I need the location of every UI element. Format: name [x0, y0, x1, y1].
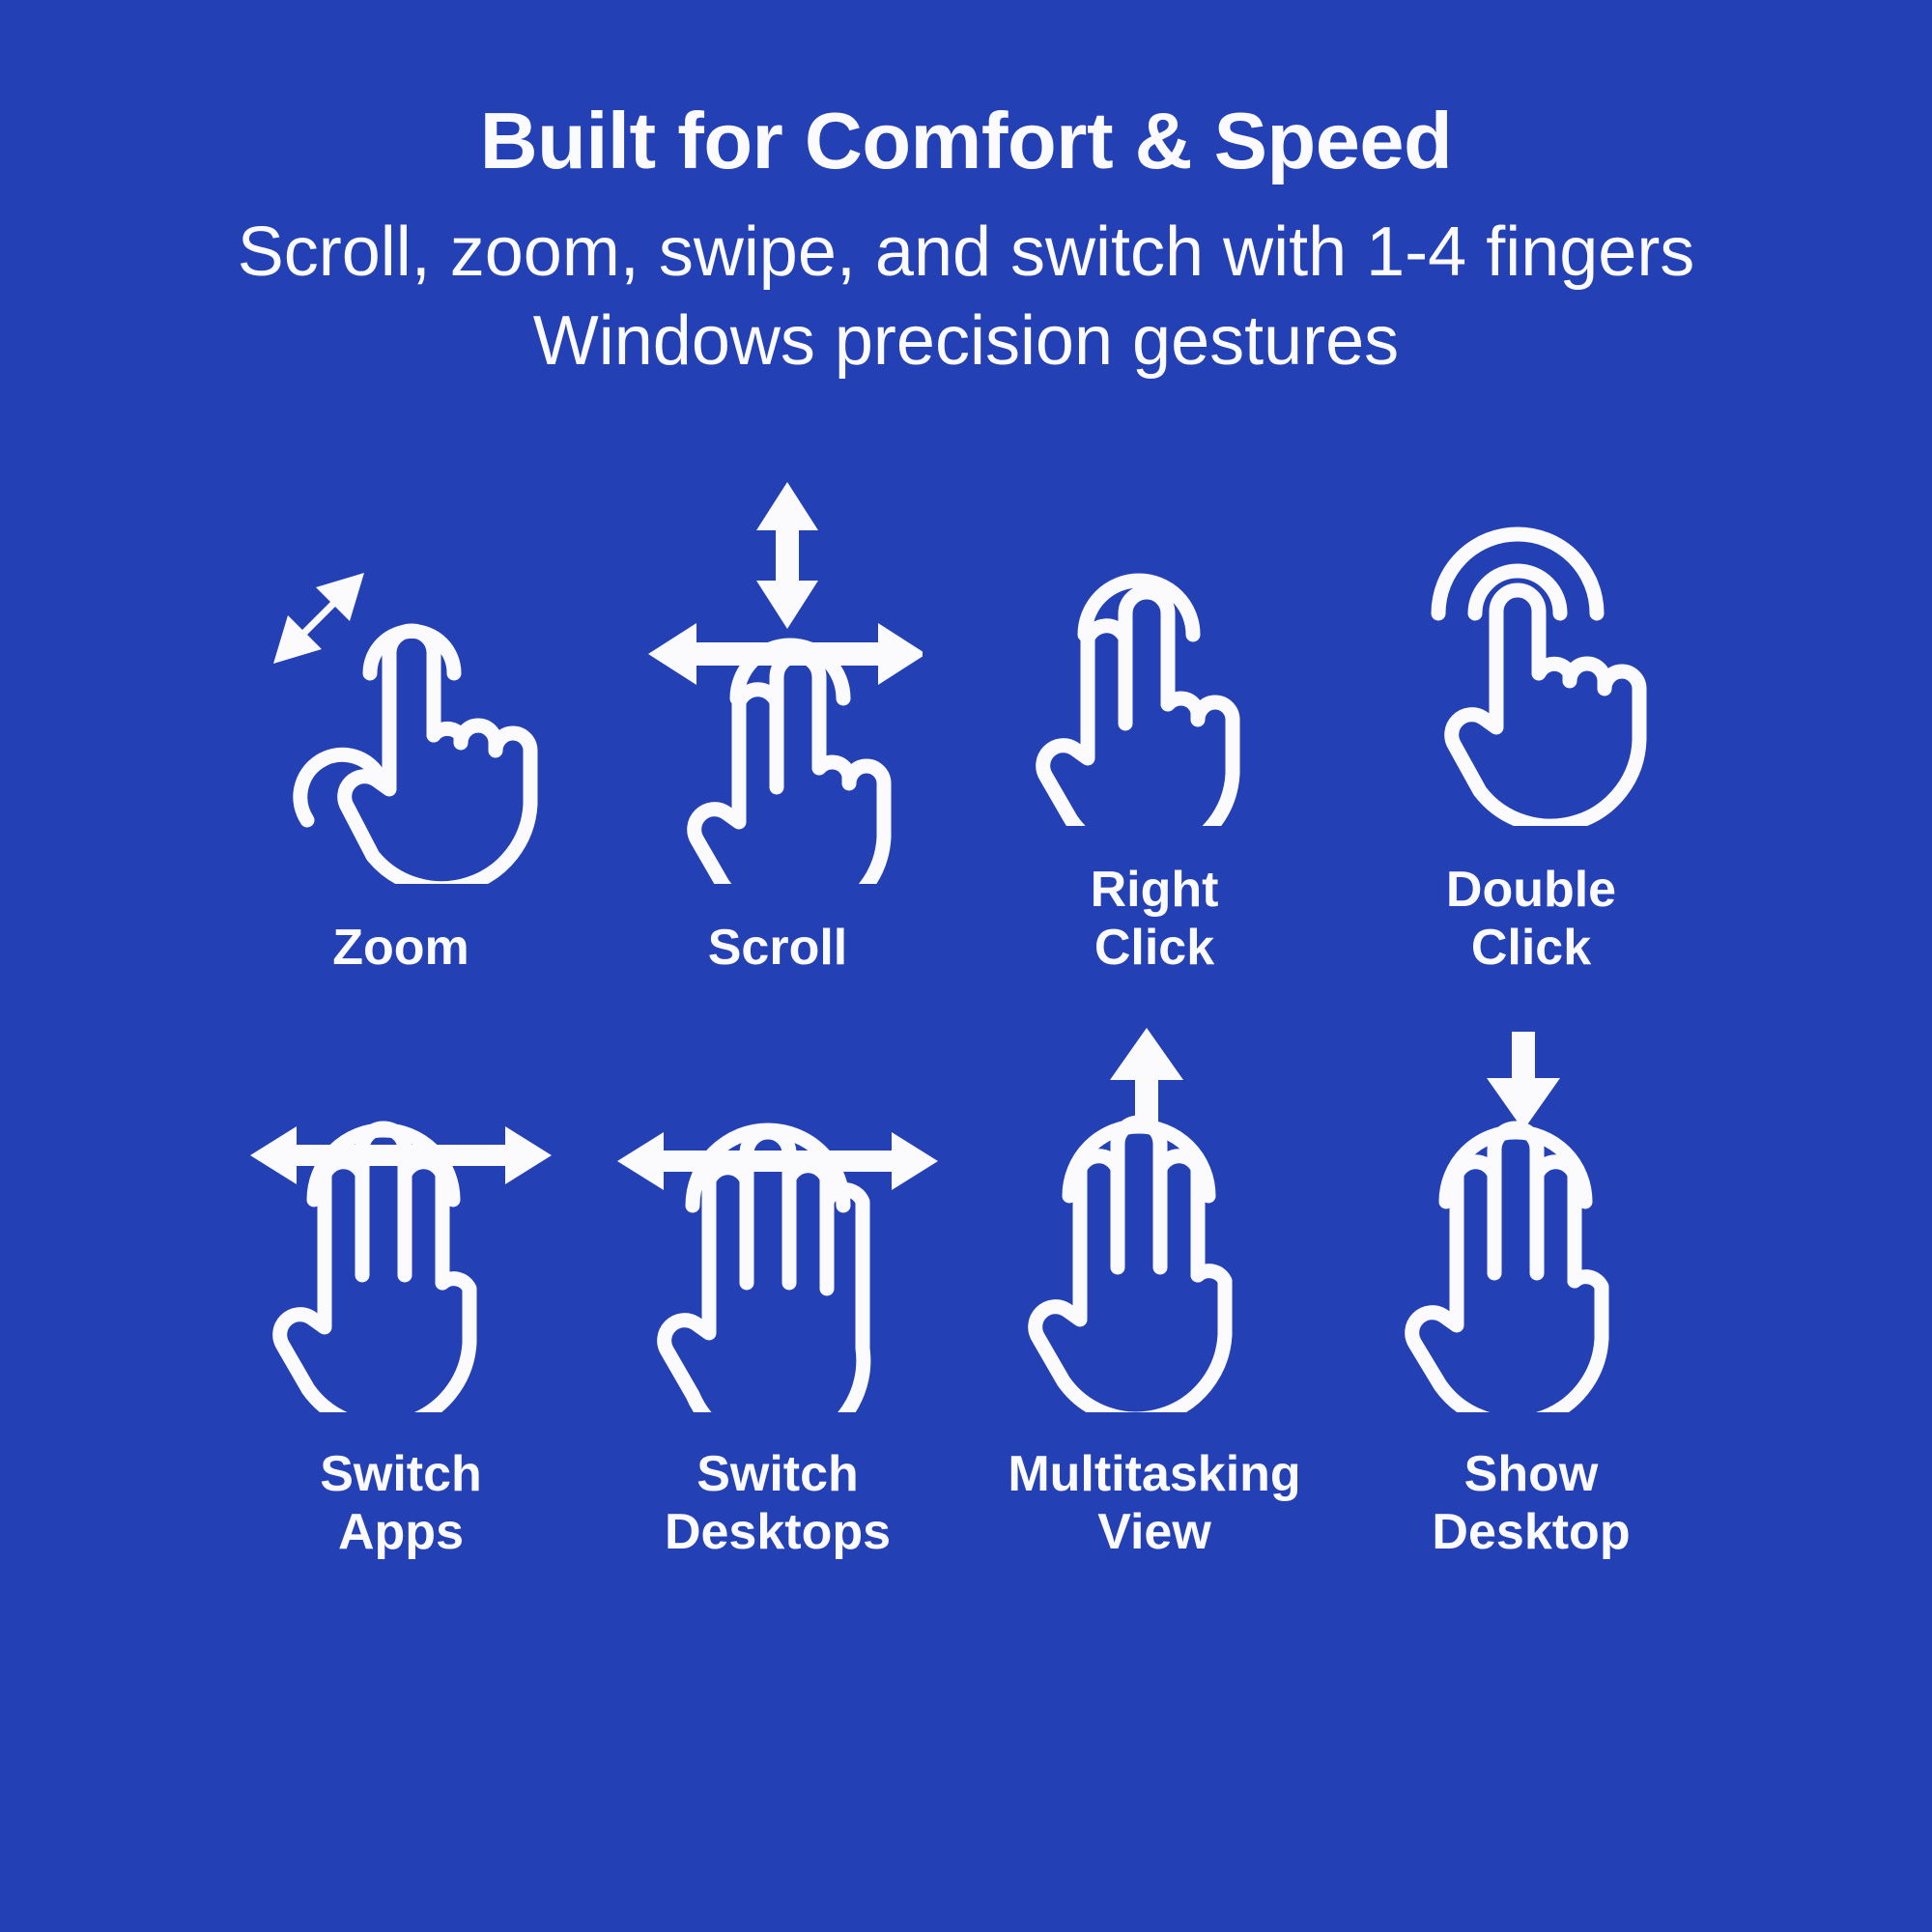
gesture-infographic: Built for Comfort & Speed Scroll, zoom, … — [0, 0, 1932, 1932]
scroll-gesture-icon — [633, 497, 923, 884]
gesture-card-label: Switch Apps — [320, 1445, 482, 1562]
up-arrow-icon — [1110, 1028, 1183, 1126]
double-click-gesture-icon — [1386, 440, 1676, 826]
gesture-row-1: Zoom — [213, 440, 1719, 978]
switch-desktops-gesture-icon — [613, 1026, 942, 1412]
gesture-row-2: Switch Apps — [213, 1026, 1719, 1562]
gesture-card-label: Double Click — [1446, 861, 1616, 978]
down-arrow-icon — [1487, 1032, 1560, 1130]
multitasking-view-gesture-icon — [1009, 1026, 1299, 1412]
gesture-card-label: Scroll — [708, 919, 848, 977]
right-click-gesture-icon — [1009, 440, 1299, 826]
gesture-card-zoom[interactable]: Zoom — [213, 497, 589, 977]
gesture-card-show-desktop[interactable]: Show Desktop — [1343, 1026, 1719, 1562]
gesture-card-label: Right Click — [1091, 861, 1219, 978]
page-subtitle: Scroll, zoom, swipe, and switch with 1-4… — [213, 208, 1719, 385]
gesture-card-switch-desktops[interactable]: Switch Desktops — [589, 1026, 966, 1562]
gesture-card-multitasking-view[interactable]: Multitasking View — [966, 1026, 1343, 1562]
gesture-card-label: Multitasking View — [1008, 1445, 1300, 1562]
gesture-card-label: Show Desktop — [1432, 1445, 1630, 1562]
gesture-grid: Zoom — [213, 385, 1719, 1561]
gesture-card-right-click[interactable]: Right Click — [966, 440, 1343, 978]
gesture-card-switch-apps[interactable]: Switch Apps — [213, 1026, 589, 1562]
gesture-card-scroll[interactable]: Scroll — [589, 497, 966, 977]
switch-apps-gesture-icon — [246, 1026, 555, 1412]
diagonal-double-arrow-icon — [273, 573, 364, 664]
gesture-card-label: Zoom — [332, 919, 469, 977]
show-desktop-gesture-icon — [1386, 1026, 1676, 1412]
page-title: Built for Comfort & Speed — [480, 100, 1453, 183]
zoom-gesture-icon — [256, 497, 546, 884]
gesture-card-label: Switch Desktops — [665, 1445, 891, 1562]
gesture-card-double-click[interactable]: Double Click — [1343, 440, 1719, 978]
